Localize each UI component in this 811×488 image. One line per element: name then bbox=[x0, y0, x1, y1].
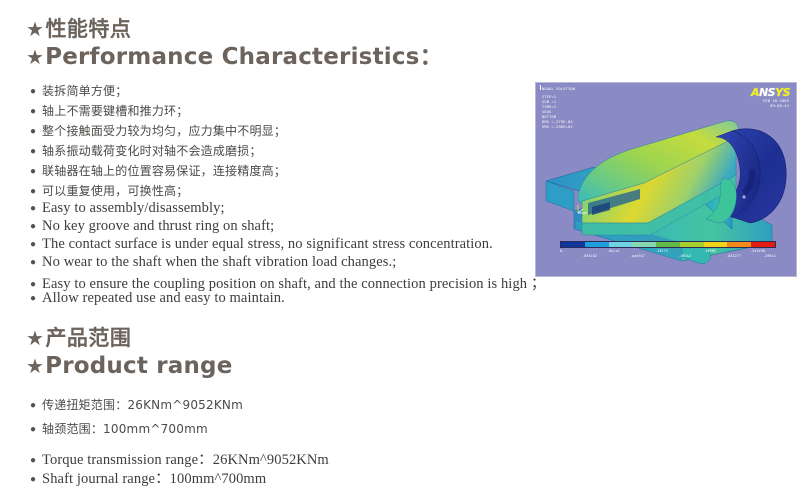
list-item: ● Easy to assembly/disassembly; bbox=[30, 200, 545, 218]
star-icon: ★ bbox=[26, 351, 44, 381]
product-range-heading-cn-text: 产品范围 bbox=[45, 326, 131, 350]
bullet-icon: ● bbox=[30, 147, 36, 157]
product-range-heading-en-text: Product range bbox=[45, 353, 232, 379]
list-item: ● 轴系振动载荷变化时对轴不会造成磨损； bbox=[30, 142, 286, 162]
list-item: ● 轴颈范围：100mm^700mm bbox=[30, 420, 243, 444]
list-item: ● 传递扭矩范围：26KNm^9052KNm bbox=[30, 396, 243, 420]
bullet-icon: ● bbox=[30, 187, 36, 197]
star-icon: ★ bbox=[26, 325, 44, 351]
list-item: ● 联轴器在轴上的位置容易保证，连接精度高； bbox=[30, 162, 286, 182]
list-item-label: 可以重复使用，可换性高； bbox=[42, 182, 188, 199]
list-item: ● No key groove and thrust ring on shaft… bbox=[30, 218, 545, 236]
legend-label: .032277 bbox=[726, 254, 741, 258]
bullet-icon: ● bbox=[30, 87, 36, 97]
bullet-icon: ● bbox=[30, 167, 36, 177]
performance-heading-en: ★Performance Characteristics： bbox=[26, 42, 443, 72]
product-range-heading-en: ★Product range bbox=[26, 351, 233, 381]
list-item-label: 装拆简单方便； bbox=[42, 82, 127, 99]
list-item-label: 整个接触面受力较为均匀，应力集中不明显； bbox=[42, 122, 286, 139]
list-item-label: 轴颈范围：100mm^700mm bbox=[42, 420, 208, 437]
bullet-icon: ● bbox=[30, 107, 36, 117]
list-item: ● 轴上不需要键槽和推力环； bbox=[30, 102, 286, 122]
legend-label: .19985 bbox=[703, 249, 716, 253]
bullet-icon: ● bbox=[30, 258, 36, 268]
axis-triad-icon bbox=[576, 202, 590, 214]
bullet-icon: ● bbox=[30, 127, 36, 137]
bullet-icon: ● bbox=[30, 204, 36, 214]
list-item-label: The contact surface is under equal stres… bbox=[42, 236, 493, 253]
legend-label: .033182 bbox=[582, 254, 597, 258]
product-range-heading-cn: ★产品范围 bbox=[26, 325, 233, 351]
legend-label: .2s3e38 bbox=[750, 249, 765, 253]
list-item: ● No wear to the shaft when the shaft vi… bbox=[30, 254, 545, 272]
legend-label: .pae547 bbox=[630, 254, 645, 258]
legend-label: .13273 bbox=[655, 249, 668, 253]
legend-band bbox=[704, 242, 728, 247]
legend-band bbox=[656, 242, 680, 247]
ansys-simulation-figure: NODAL SOLUTIONSTEP=1 SUB =1 TIME=1 SEQV … bbox=[535, 82, 797, 277]
list-item-label: 联轴器在轴上的位置容易保证，连接精度高； bbox=[42, 162, 286, 179]
list-item: ● Easy to ensure the coupling position o… bbox=[30, 272, 545, 290]
list-item-label: Torque transmission range：26KNm^9052KNm bbox=[42, 448, 329, 469]
bullet-icon: ● bbox=[30, 401, 36, 411]
list-item-label: No wear to the shaft when the shaft vibr… bbox=[42, 254, 396, 271]
legend-label: .8e+x1 bbox=[607, 249, 620, 253]
performance-heading-cn-text: 性能特点 bbox=[45, 17, 131, 41]
legend-label: .296x1 bbox=[763, 254, 776, 258]
product-range-chinese-bullet-list: ● 传递扭矩范围：26KNm^9052KNm ● 轴颈范围：100mm^700m… bbox=[30, 396, 243, 444]
legend-band bbox=[585, 242, 609, 247]
list-item-label: No key groove and thrust ring on shaft; bbox=[42, 218, 274, 235]
legend-band bbox=[561, 242, 585, 247]
bullet-icon: ● bbox=[30, 425, 36, 435]
list-item: ● 装拆简单方便； bbox=[30, 82, 286, 102]
list-item: ● Torque transmission range：26KNm^9052KN… bbox=[30, 448, 329, 467]
legend-color-bands bbox=[560, 241, 776, 248]
bullet-icon: ● bbox=[30, 294, 36, 304]
list-item-label: Shaft journal range：100mm^700mm bbox=[42, 467, 266, 488]
bullet-icon: ● bbox=[30, 222, 36, 232]
legend-band bbox=[632, 242, 656, 247]
list-item: ● The contact surface is under equal str… bbox=[30, 236, 545, 254]
product-range-english-bullet-list: ● Torque transmission range：26KNm^9052KN… bbox=[30, 448, 329, 486]
contour-color-legend: 0 .8e+x1 .13273 .19985 .2s3e38 .033182 .… bbox=[560, 241, 776, 260]
legend-band bbox=[751, 242, 775, 247]
performance-english-bullet-list: ● Easy to assembly/disassembly; ● No key… bbox=[30, 200, 545, 308]
list-item: ● 可以重复使用，可换性高； bbox=[30, 182, 286, 202]
performance-heading-group: ★性能特点 ★Performance Characteristics： bbox=[26, 16, 443, 72]
star-icon: ★ bbox=[26, 16, 44, 42]
list-item: ● 整个接触面受力较为均匀，应力集中不明显； bbox=[30, 122, 286, 142]
list-item-label: Allow repeated use and easy to maintain. bbox=[42, 290, 285, 307]
legend-label: .16EA2 bbox=[678, 254, 691, 258]
legend-band bbox=[727, 242, 751, 247]
performance-heading-cn: ★性能特点 bbox=[26, 16, 443, 42]
list-item-label: 传递扭矩范围：26KNm^9052KNm bbox=[42, 396, 243, 413]
product-range-heading-group: ★产品范围 ★Product range bbox=[26, 325, 233, 381]
legend-band bbox=[609, 242, 633, 247]
legend-label: 0 bbox=[560, 249, 562, 253]
list-item-label: Easy to assembly/disassembly; bbox=[42, 200, 225, 217]
legend-band bbox=[680, 242, 704, 247]
bullet-icon: ● bbox=[30, 240, 36, 250]
bullet-icon: ● bbox=[30, 280, 36, 290]
list-item-label: 轴上不需要键槽和推力环； bbox=[42, 102, 188, 119]
performance-chinese-bullet-list: ● 装拆简单方便； ● 轴上不需要键槽和推力环； ● 整个接触面受力较为均匀，应… bbox=[30, 82, 286, 202]
legend-tick-labels: 0 .8e+x1 .13273 .19985 .2s3e38 .033182 .… bbox=[560, 248, 776, 260]
bullet-icon: ● bbox=[30, 456, 36, 466]
performance-heading-en-text: Performance Characteristics： bbox=[45, 44, 443, 70]
star-icon: ★ bbox=[26, 42, 44, 72]
list-item-label: 轴系振动载荷变化时对轴不会造成磨损； bbox=[42, 142, 262, 159]
